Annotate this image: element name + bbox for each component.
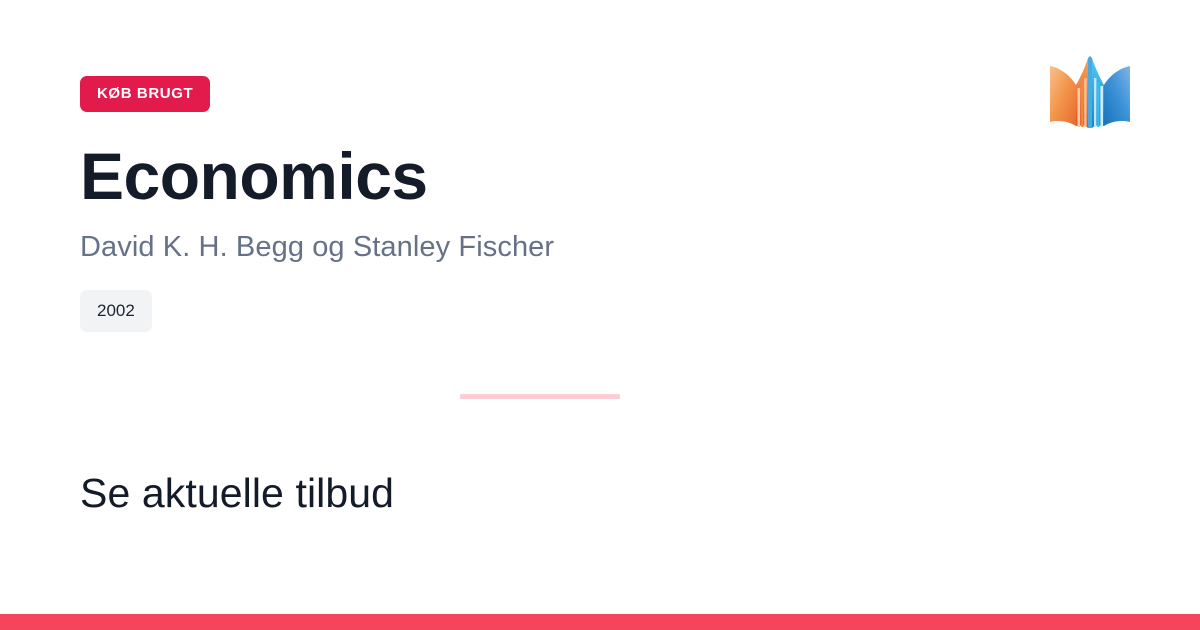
- cta-label[interactable]: Se aktuelle tilbud: [80, 407, 1000, 517]
- open-book-logo: [1038, 48, 1142, 160]
- logo-mark: [1050, 56, 1130, 128]
- section-divider: [460, 394, 620, 399]
- status-badge: Køb brugt: [80, 76, 210, 112]
- year-chip: 2002: [80, 290, 152, 332]
- authors-line: David K. H. Begg og Stanley Fischer: [80, 212, 1000, 265]
- page-title: Economics: [80, 112, 1000, 212]
- card-content: Køb brugt Economics David K. H. Begg og …: [80, 0, 1000, 517]
- og-card: Køb brugt Economics David K. H. Begg og …: [0, 0, 1200, 630]
- meta-row: 2002: [80, 265, 1000, 332]
- bottom-accent-bar: [0, 614, 1200, 630]
